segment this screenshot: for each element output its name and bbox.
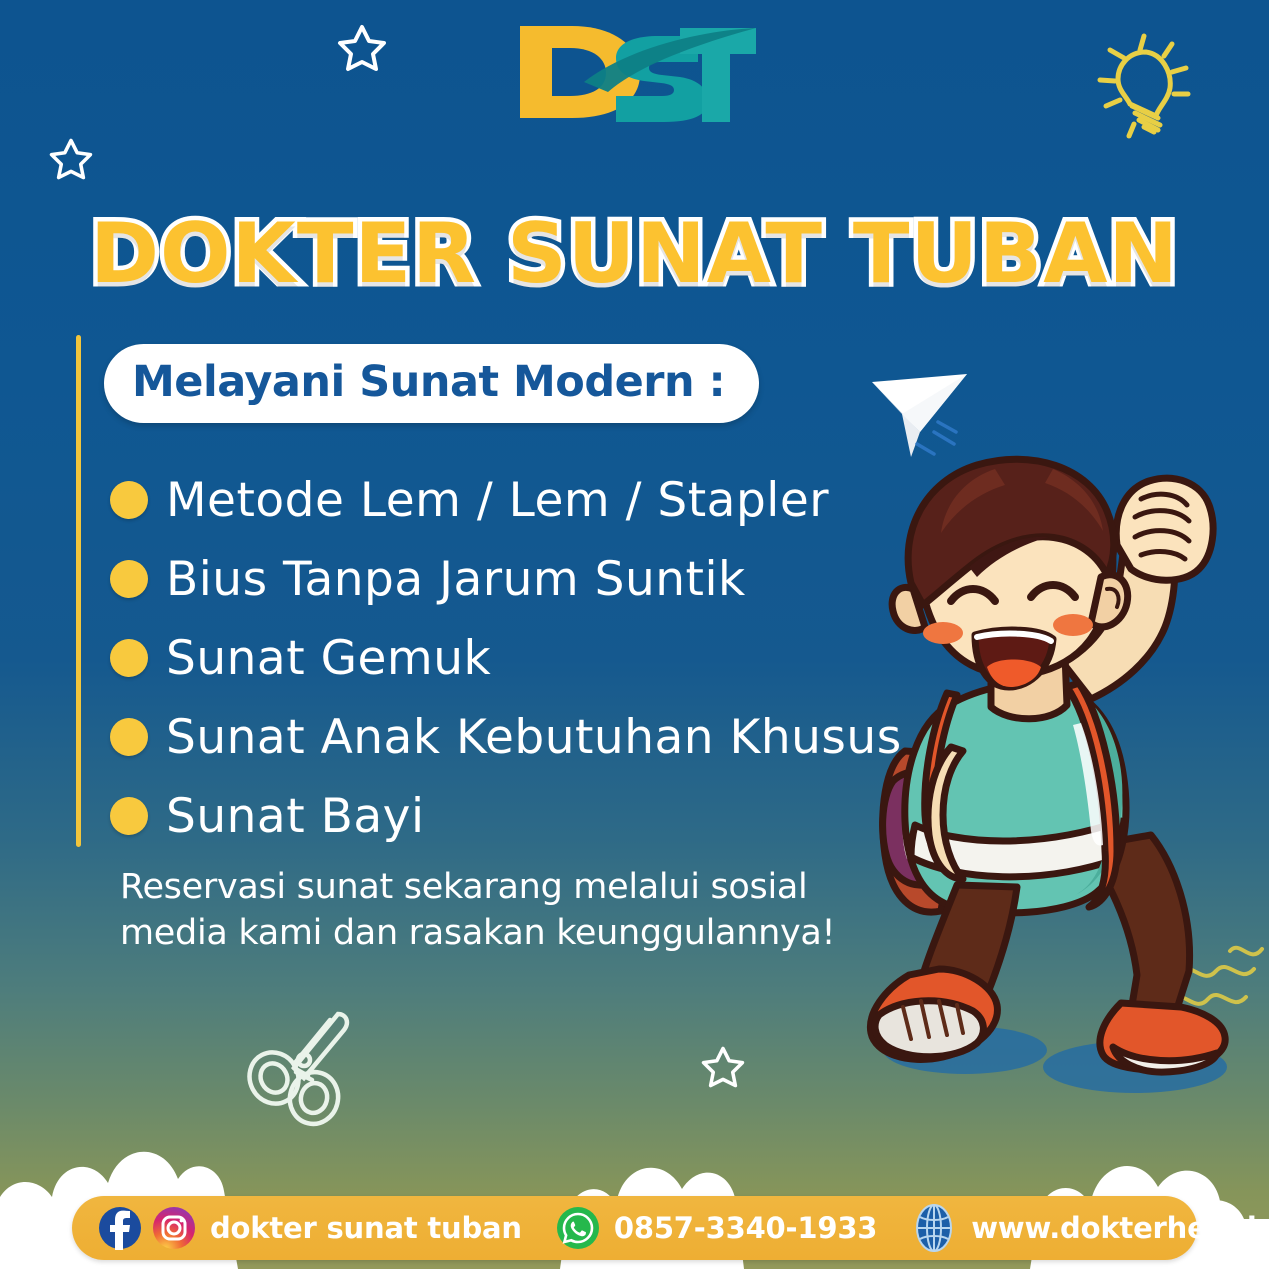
dst-logo-icon	[512, 18, 758, 126]
phone-number: 0857-3340-1933	[614, 1211, 877, 1245]
left-accent-bar	[76, 335, 81, 847]
service-label: Sunat Gemuk	[166, 631, 491, 686]
subtitle-pill: Melayani Sunat Modern :	[104, 344, 759, 423]
bullet-icon	[110, 560, 148, 598]
page-title: DOKTER SUNAT TUBAN	[0, 205, 1269, 302]
instagram-link[interactable]	[152, 1206, 196, 1250]
list-item: Sunat Anak Kebutuhan Khusus	[110, 699, 900, 775]
boy-mascot-illustration	[845, 455, 1265, 1110]
subtitle-label: Melayani Sunat Modern :	[132, 357, 725, 407]
bullet-icon	[110, 639, 148, 677]
social-handle: dokter sunat tuban	[210, 1211, 522, 1245]
star-icon	[48, 136, 94, 182]
service-label: Metode Lem / Lem / Stapler	[166, 473, 829, 528]
reservation-text: Reservasi sunat sekarang melalui sosial …	[120, 864, 860, 956]
globe-icon	[911, 1203, 957, 1253]
service-label: Bius Tanpa Jarum Suntik	[166, 552, 746, 607]
services-list: Metode Lem / Lem / Stapler Bius Tanpa Ja…	[110, 462, 900, 857]
website-url: www.dokterheboh.com	[971, 1211, 1269, 1245]
service-label: Sunat Anak Kebutuhan Khusus	[166, 710, 902, 765]
bullet-icon	[110, 797, 148, 835]
list-item: Sunat Gemuk	[110, 620, 900, 696]
list-item: Metode Lem / Lem / Stapler	[110, 462, 900, 538]
paper-plane-icon	[862, 352, 982, 467]
bullet-icon	[110, 718, 148, 756]
service-label: Sunat Bayi	[166, 789, 425, 844]
poster-canvas: DOKTER SUNAT TUBAN Melayani Sunat Modern…	[0, 0, 1269, 1269]
bullet-icon	[110, 481, 148, 519]
instagram-icon	[152, 1206, 196, 1250]
facebook-icon	[98, 1206, 142, 1250]
whatsapp-icon	[556, 1206, 600, 1250]
footer-contact-bar: dokter sunat tuban 0857-3340-1933	[72, 1196, 1197, 1260]
website-link[interactable]	[911, 1203, 957, 1253]
facebook-link[interactable]	[98, 1206, 142, 1250]
list-item: Sunat Bayi	[110, 778, 900, 854]
whatsapp-link[interactable]	[556, 1206, 600, 1250]
brand-logo	[0, 18, 1269, 138]
list-item: Bius Tanpa Jarum Suntik	[110, 541, 900, 617]
